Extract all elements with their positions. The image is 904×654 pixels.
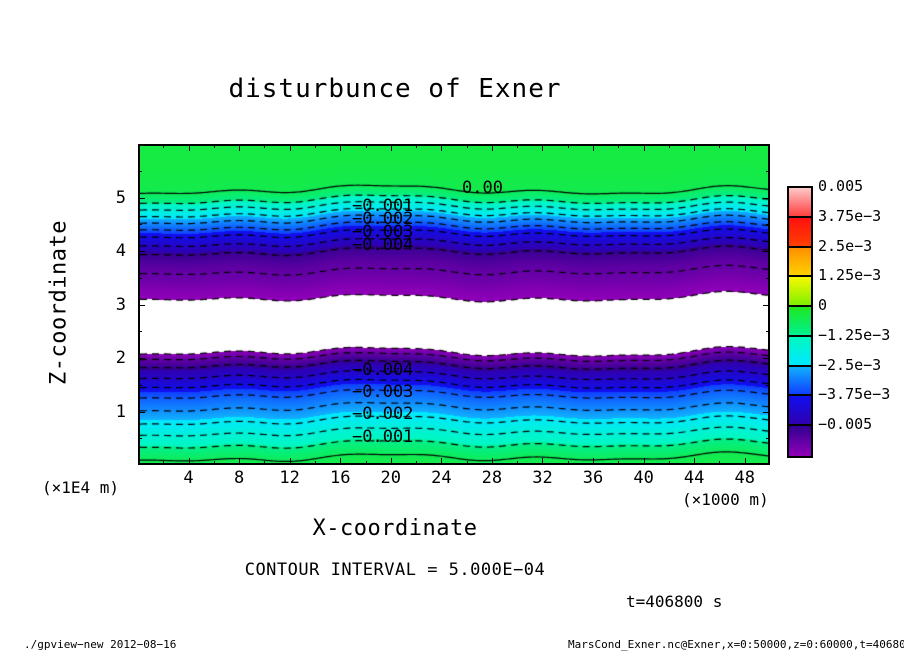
colorbar-tick-label: 2.5e−3 — [818, 237, 872, 255]
colorbar-tick-label: 3.75e−3 — [818, 207, 881, 225]
footer-source-text: MarsCond_Exner.nc@Exner,x=0:50000,z=0:60… — [568, 638, 904, 651]
colorbar-tick-label: −1.25e−3 — [818, 326, 890, 344]
colorbar-tick-label: 1.25e−3 — [818, 266, 881, 284]
colorbar-tick-label: 0.005 — [818, 177, 863, 195]
time-stamp-text: t=406800 s — [626, 592, 722, 611]
colorbar-tick-label: −0.005 — [818, 415, 872, 433]
colorbar-tick-label: −2.5e−3 — [818, 356, 881, 374]
colorbar-tick-label: 0 — [818, 296, 827, 314]
colorbar-label-layer: 0.0053.75e−32.5e−31.25e−30−1.25e−3−2.5e−… — [0, 0, 904, 654]
contour-interval-text: CONTOUR INTERVAL = 5.000E−04 — [0, 560, 790, 580]
footer-command-text: ./gpview−new 2012−08−16 — [24, 638, 176, 651]
colorbar-tick-label: −3.75e−3 — [818, 385, 890, 403]
